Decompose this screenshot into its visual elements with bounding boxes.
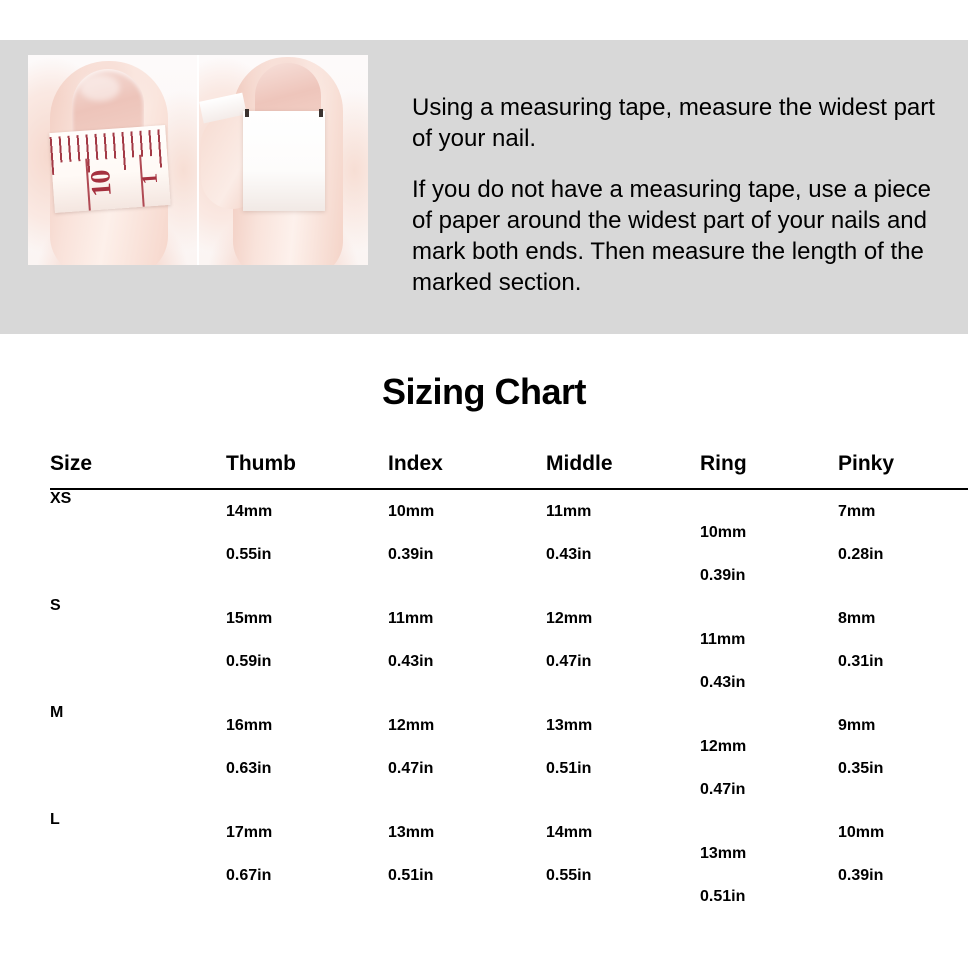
value-mm: 11mm	[700, 618, 838, 661]
value-inch: 0.63in	[226, 747, 388, 790]
value-mm: 12mm	[388, 704, 546, 747]
cell-xs-ring: 10mm 0.39in	[700, 489, 838, 597]
value-mm: 12mm	[700, 725, 838, 768]
table-row: S 15mm 0.59in 11mm 0.43in 12mm 0.47in 11…	[50, 597, 968, 704]
cell-m-ring: 12mm 0.47in	[700, 704, 838, 811]
column-header-size: Size	[50, 452, 226, 489]
value-inch: 0.39in	[388, 533, 546, 576]
value-mm: 13mm	[546, 704, 700, 747]
cell-xs-pinky: 7mm 0.28in	[838, 489, 968, 597]
column-header-pinky: Pinky	[838, 452, 968, 489]
value-inch: 0.35in	[838, 747, 968, 790]
cell-m-index: 12mm 0.47in	[388, 704, 546, 811]
table-header-row: Size Thumb Index Middle Ring Pinky	[50, 452, 968, 489]
cell-s-index: 11mm 0.43in	[388, 597, 546, 704]
value-mm: 16mm	[226, 704, 388, 747]
value-inch: 0.43in	[700, 661, 838, 704]
tape-number-secondary: 1	[136, 173, 163, 185]
value-mm: 10mm	[388, 490, 546, 533]
page-title: Sizing Chart	[0, 371, 968, 413]
value-mm: 11mm	[546, 490, 700, 533]
cell-l-pinky: 10mm 0.39in	[838, 811, 968, 918]
table-body: XS 14mm 0.55in 10mm 0.39in 11mm 0.43in 1…	[50, 489, 968, 918]
value-inch: 0.59in	[226, 640, 388, 683]
cell-m-thumb: 16mm 0.63in	[226, 704, 388, 811]
cell-xs-thumb: 14mm 0.55in	[226, 489, 388, 597]
column-header-middle: Middle	[546, 452, 700, 489]
table-header: Size Thumb Index Middle Ring Pinky	[50, 452, 968, 489]
table-row: XS 14mm 0.55in 10mm 0.39in 11mm 0.43in 1…	[50, 489, 968, 597]
measuring-tape: 10 1	[49, 125, 170, 213]
cell-s-ring: 11mm 0.43in	[700, 597, 838, 704]
value-mm: 10mm	[700, 511, 838, 554]
cell-l-index: 13mm 0.51in	[388, 811, 546, 918]
value-inch: 0.55in	[546, 854, 700, 897]
value-inch: 0.51in	[546, 747, 700, 790]
cell-xs-middle: 11mm 0.43in	[546, 489, 700, 597]
value-inch: 0.28in	[838, 533, 968, 576]
sizing-table-container: Size Thumb Index Middle Ring Pinky XS 14…	[50, 452, 968, 918]
cell-s-middle: 12mm 0.47in	[546, 597, 700, 704]
value-mm: 12mm	[546, 597, 700, 640]
value-mm: 9mm	[838, 704, 968, 747]
table-row: L 17mm 0.67in 13mm 0.51in 14mm 0.55in 13…	[50, 811, 968, 918]
value-inch: 0.51in	[700, 875, 838, 918]
instruction-paragraph-2: If you do not have a measuring tape, use…	[412, 174, 946, 298]
table-row: M 16mm 0.63in 12mm 0.47in 13mm 0.51in 12…	[50, 704, 968, 811]
sizing-table: Size Thumb Index Middle Ring Pinky XS 14…	[50, 452, 968, 918]
value-inch: 0.47in	[388, 747, 546, 790]
value-mm: 10mm	[838, 811, 968, 854]
cell-s-thumb: 15mm 0.59in	[226, 597, 388, 704]
value-inch: 0.31in	[838, 640, 968, 683]
cell-m-middle: 13mm 0.51in	[546, 704, 700, 811]
value-mm: 7mm	[838, 490, 968, 533]
value-inch: 0.43in	[388, 640, 546, 683]
size-label-m: M	[50, 704, 226, 811]
value-mm: 14mm	[226, 490, 388, 533]
value-inch: 0.39in	[838, 854, 968, 897]
cell-l-ring: 13mm 0.51in	[700, 811, 838, 918]
value-inch: 0.55in	[226, 533, 388, 576]
cell-m-pinky: 9mm 0.35in	[838, 704, 968, 811]
cell-xs-index: 10mm 0.39in	[388, 489, 546, 597]
value-mm: 17mm	[226, 811, 388, 854]
paper-mark-left	[245, 109, 249, 117]
column-header-index: Index	[388, 452, 546, 489]
tape-major-ticks	[50, 129, 168, 175]
cell-l-middle: 14mm 0.55in	[546, 811, 700, 918]
value-inch: 0.43in	[546, 533, 700, 576]
paper-strip-on-nail-photo	[199, 55, 368, 265]
value-mm: 8mm	[838, 597, 968, 640]
cell-l-thumb: 17mm 0.67in	[226, 811, 388, 918]
measuring-tape-on-nail-photo: 10 1	[28, 55, 197, 265]
measurement-photos: 10 1	[28, 55, 368, 265]
tape-number-10: 10	[85, 170, 119, 198]
instruction-paragraph-1: Using a measuring tape, measure the wide…	[412, 92, 946, 154]
nail-highlight	[80, 75, 120, 101]
value-inch: 0.39in	[700, 554, 838, 597]
paper-strip	[243, 111, 325, 211]
value-mm: 14mm	[546, 811, 700, 854]
value-mm: 13mm	[388, 811, 546, 854]
size-label-xs: XS	[50, 489, 226, 597]
cell-s-pinky: 8mm 0.31in	[838, 597, 968, 704]
value-mm: 11mm	[388, 597, 546, 640]
column-header-ring: Ring	[700, 452, 838, 489]
size-label-s: S	[50, 597, 226, 704]
paper-mark-right	[319, 109, 323, 117]
size-label-l: L	[50, 811, 226, 918]
measuring-instructions: Using a measuring tape, measure the wide…	[412, 92, 946, 298]
value-mm: 13mm	[700, 832, 838, 875]
value-inch: 0.47in	[700, 768, 838, 811]
value-mm: 15mm	[226, 597, 388, 640]
value-inch: 0.47in	[546, 640, 700, 683]
column-header-thumb: Thumb	[226, 452, 388, 489]
value-inch: 0.51in	[388, 854, 546, 897]
value-inch: 0.67in	[226, 854, 388, 897]
